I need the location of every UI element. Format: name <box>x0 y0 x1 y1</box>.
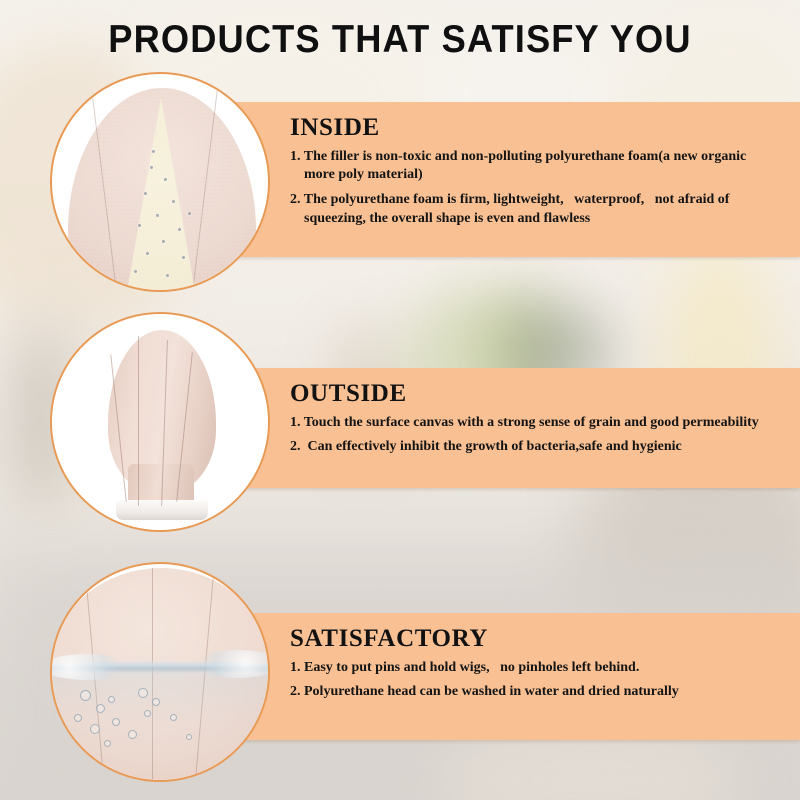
water-bubble <box>186 734 192 740</box>
head-seam-line <box>138 336 139 506</box>
canvas-texture-overlay <box>52 74 268 290</box>
section-heading: SATISFACTORY <box>290 625 782 653</box>
canvas-head-top-with-pins-photo <box>52 74 268 290</box>
section-heading: OUTSIDE <box>290 380 782 408</box>
feature-bullet-list: 1. Touch the surface canvas with a stron… <box>290 414 782 458</box>
water-bubble <box>90 724 100 734</box>
feature-image-circle-satisfactory <box>50 562 270 782</box>
canvas-head-full-photo <box>52 314 268 530</box>
water-bubble <box>138 688 148 698</box>
water-bubble <box>74 714 82 722</box>
feature-bullet-list: 1. The filler is non-toxic and non-pollu… <box>290 148 782 229</box>
list-item: 1. The filler is non-toxic and non-pollu… <box>290 148 782 186</box>
list-item: 2. Polyurethane head can be washed in wa… <box>290 683 782 702</box>
water-bubble <box>152 698 160 706</box>
feature-image-circle-outside <box>50 312 270 532</box>
feature-bullet-list: 1. Easy to put pins and hold wigs, no pi… <box>290 659 782 703</box>
list-item: 2. The polyurethane foam is firm, lightw… <box>290 191 782 229</box>
water-bubble <box>96 704 105 713</box>
feature-image-circle-inside <box>50 72 270 292</box>
water-bubble <box>128 730 137 739</box>
water-bubble <box>144 710 151 717</box>
list-item: 2. Can effectively inhibit the growth of… <box>290 438 782 457</box>
list-item: 1. Easy to put pins and hold wigs, no pi… <box>290 659 782 678</box>
canvas-head-in-water-photo <box>52 564 268 780</box>
list-item: 1. Touch the surface canvas with a stron… <box>290 414 782 433</box>
submerged-water-overlay <box>52 668 268 780</box>
infographic-page: PRODUCTS THAT SATISFY YOU INSIDE 1. The … <box>0 0 800 800</box>
water-bubble <box>80 690 91 701</box>
page-title: PRODUCTS THAT SATISFY YOU <box>28 18 772 62</box>
water-bubble <box>170 714 177 721</box>
water-bubble <box>112 718 120 726</box>
section-heading: INSIDE <box>290 114 782 142</box>
water-bubble <box>108 696 115 703</box>
water-bubble <box>104 740 111 747</box>
